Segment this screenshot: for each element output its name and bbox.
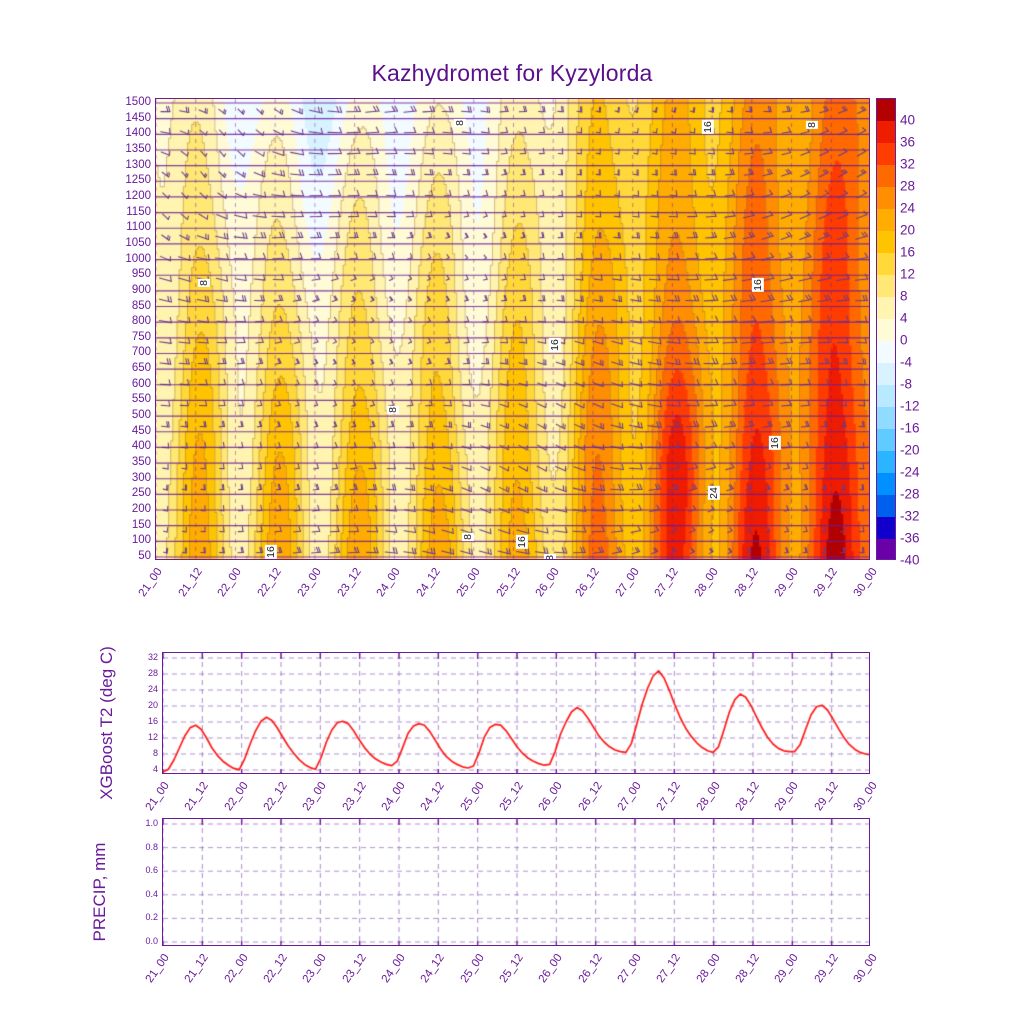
x-tick-label: 26_12: [576, 952, 604, 985]
x-tick-label: 24_00: [380, 952, 408, 985]
precip-x-axis-labels: 21_0021_1222_0022_1223_0023_1224_0024_12…: [162, 952, 870, 1000]
y-tick-label: 1250: [125, 174, 151, 186]
contour-label: 8: [806, 121, 818, 129]
x-tick-label: 29_00: [773, 952, 801, 985]
colorbar-segment: [877, 341, 895, 363]
y-tick-label: 1.0: [124, 818, 158, 828]
x-tick-label: 26_00: [537, 780, 565, 813]
x-tick-label: 26_00: [537, 952, 565, 985]
colorbar-tick-label: -4: [900, 355, 912, 370]
x-tick-label: 21_00: [144, 952, 172, 985]
x-tick-label: 24_12: [419, 780, 447, 813]
y-tick-label: 850: [132, 300, 151, 312]
x-tick-label: 21_00: [144, 780, 172, 813]
x-tick-label: 29_12: [812, 566, 840, 599]
colorbar-segment: [877, 143, 895, 165]
x-tick-label: 21_12: [176, 566, 204, 599]
colorbar-segment: [877, 429, 895, 451]
x-tick-label: 27_12: [653, 566, 681, 599]
x-tick-label: 29_00: [773, 780, 801, 813]
colorbar-tick-label: -16: [900, 421, 920, 436]
x-tick-label: 27_00: [616, 780, 644, 813]
x-tick-label: 25_12: [498, 952, 526, 985]
y-tick-label: 1150: [126, 206, 151, 218]
colorbar[interactable]: [876, 98, 896, 560]
y-tick-label: 0.6: [124, 865, 158, 875]
x-tick-label: 28_00: [694, 952, 722, 985]
x-tick-label: 22_00: [216, 566, 244, 599]
x-tick-label: 30_00: [852, 566, 880, 599]
x-tick-label: 22_00: [222, 780, 250, 813]
y-tick-label: 20: [124, 700, 158, 710]
colorbar-tick-label: 0: [900, 333, 908, 348]
x-tick-label: 29_12: [812, 952, 840, 985]
colorbar-tick-label: -40: [900, 553, 920, 568]
colorbar-tick-label: -28: [900, 487, 920, 502]
x-tick-label: 29_00: [772, 566, 800, 599]
contour-labels-layer: 81688161681624168168: [156, 99, 869, 559]
colorbar-segment: [877, 231, 895, 253]
x-tick-label: 23_12: [340, 780, 368, 813]
contour-label: 16: [265, 545, 277, 559]
colorbar-segment: [877, 253, 895, 275]
x-tick-label: 29_12: [812, 780, 840, 813]
colorbar-segment: [877, 495, 895, 517]
precip-y-axis-labels: 1.00.80.60.40.20.0: [120, 818, 158, 946]
y-tick-label: 400: [132, 440, 151, 452]
t2-temperature-line: [163, 653, 870, 774]
colorbar-tick-label: 12: [900, 267, 915, 282]
x-tick-label: 21_12: [183, 952, 211, 985]
contour-label: 8: [544, 554, 556, 560]
contour-label: 8: [198, 279, 210, 287]
y-tick-label: 600: [132, 378, 151, 390]
y-tick-label: 350: [132, 456, 151, 468]
y-tick-label: 1000: [125, 253, 151, 265]
x-tick-label: 27_12: [655, 780, 683, 813]
precip-bars: [163, 819, 870, 946]
x-tick-label: 23_12: [340, 952, 368, 985]
colorbar-segment: [877, 473, 895, 495]
x-tick-label: 24_00: [380, 780, 408, 813]
x-tick-label: 30_00: [852, 780, 880, 813]
colorbar-labels: 4036322824201612840-4-8-12-16-20-24-28-3…: [900, 98, 942, 560]
colorbar-segment: [877, 187, 895, 209]
x-tick-label: 28_00: [693, 566, 721, 599]
colorbar-tick-label: -20: [900, 443, 920, 458]
x-tick-label: 22_12: [256, 566, 284, 599]
y-tick-label: 1100: [126, 221, 151, 233]
y-tick-label: 1450: [125, 112, 151, 124]
colorbar-tick-label: -36: [900, 531, 920, 546]
x-tick-label: 25_12: [494, 566, 522, 599]
y-tick-label: 700: [132, 346, 151, 358]
colorbar-segment: [877, 99, 895, 121]
colorbar-tick-label: -32: [900, 509, 920, 524]
y-tick-label: 32: [124, 652, 158, 662]
colorbar-segment: [877, 385, 895, 407]
y-tick-label: 1050: [125, 237, 151, 249]
y-tick-label: 28: [124, 668, 158, 678]
x-tick-label: 24_00: [375, 566, 403, 599]
y-tick-label: 800: [132, 315, 151, 327]
y-tick-label: 50: [138, 550, 151, 562]
colorbar-tick-label: 16: [900, 245, 915, 260]
colorbar-tick-label: -8: [900, 377, 912, 392]
y-tick-label: 24: [124, 684, 158, 694]
y-tick-label: 1300: [125, 159, 151, 171]
colorbar-segment: [877, 363, 895, 385]
colorbar-segment: [877, 539, 895, 560]
y-tick-label: 1200: [125, 190, 151, 202]
x-tick-label: 26_00: [534, 566, 562, 599]
y-tick-label: 8: [124, 748, 158, 758]
colorbar-segment: [877, 165, 895, 187]
colorbar-tick-label: 36: [900, 135, 915, 150]
x-tick-label: 27_12: [655, 952, 683, 985]
colorbar-segment: [877, 275, 895, 297]
contour-label: 8: [387, 406, 399, 414]
x-tick-label: 25_00: [458, 780, 486, 813]
colorbar-tick-label: 20: [900, 223, 915, 238]
x-tick-label: 23_00: [301, 952, 329, 985]
x-tick-label: 23_00: [296, 566, 324, 599]
y-tick-label: 0.0: [124, 936, 158, 946]
precipitation-panel[interactable]: [162, 818, 870, 946]
y-tick-label: 100: [132, 534, 151, 546]
x-tick-label: 21_00: [137, 566, 165, 599]
main-panel-x-axis-labels: 21_0021_1222_0022_1223_0023_1224_0024_12…: [155, 566, 870, 618]
y-tick-label: 1350: [125, 143, 151, 155]
colorbar-segment: [877, 517, 895, 539]
y-tick-label: 150: [132, 519, 151, 531]
colorbar-tick-label: -24: [900, 465, 920, 480]
colorbar-tick-label: 28: [900, 179, 915, 194]
y-tick-label: 650: [132, 362, 151, 374]
y-tick-label: 550: [132, 393, 151, 405]
contour-label: 8: [454, 119, 466, 127]
colorbar-segment: [877, 451, 895, 473]
y-tick-label: 950: [132, 268, 151, 280]
y-tick-label: 500: [132, 409, 151, 421]
x-tick-label: 27_00: [613, 566, 641, 599]
upper-air-cross-section-panel[interactable]: 81688161681624168168: [155, 98, 870, 560]
y-tick-label: 1400: [125, 127, 151, 139]
colorbar-segment: [877, 407, 895, 429]
precip-axis-title: PRECIP, mm: [90, 802, 110, 982]
y-tick-label: 300: [132, 472, 151, 484]
colorbar-segment: [877, 319, 895, 341]
y-tick-label: 0.2: [124, 912, 158, 922]
x-tick-label: 28_00: [694, 780, 722, 813]
xgboost-t2-panel[interactable]: [162, 652, 870, 774]
colorbar-tick-label: 24: [900, 201, 915, 216]
colorbar-tick-label: 40: [900, 113, 915, 128]
contour-label: 16: [516, 535, 528, 549]
main-panel-y-axis-labels: 1500145014001350130012501200115011001050…: [95, 98, 151, 560]
colorbar-tick-label: 32: [900, 157, 915, 172]
x-tick-label: 23_00: [301, 780, 329, 813]
x-tick-label: 28_12: [732, 566, 760, 599]
y-tick-label: 1500: [125, 96, 151, 108]
y-tick-label: 900: [132, 284, 151, 296]
x-tick-label: 22_00: [222, 952, 250, 985]
x-tick-label: 30_00: [852, 952, 880, 985]
x-tick-label: 25_12: [498, 780, 526, 813]
y-tick-label: 450: [132, 425, 151, 437]
contour-label: 16: [549, 338, 561, 352]
colorbar-tick-label: -12: [900, 399, 920, 414]
colorbar-segment: [877, 297, 895, 319]
y-tick-label: 0.8: [124, 842, 158, 852]
x-tick-label: 24_12: [415, 566, 443, 599]
x-tick-label: 25_00: [454, 566, 482, 599]
y-tick-label: 12: [124, 732, 158, 742]
y-tick-label: 750: [132, 331, 151, 343]
contour-label: 24: [708, 486, 720, 500]
contour-label: 8: [462, 533, 474, 541]
x-tick-label: 21_12: [183, 780, 211, 813]
x-tick-label: 27_00: [616, 952, 644, 985]
contour-label: 16: [769, 436, 781, 450]
t2-y-axis-labels: 32282420161284: [120, 652, 158, 774]
contour-label: 16: [752, 278, 764, 292]
x-tick-label: 28_12: [734, 952, 762, 985]
y-tick-label: 4: [124, 764, 158, 774]
x-tick-label: 24_12: [419, 952, 447, 985]
colorbar-segment: [877, 209, 895, 231]
x-tick-label: 23_12: [335, 566, 363, 599]
colorbar-tick-label: 4: [900, 311, 908, 326]
page-title: Kazhydromet for Kyzylorda: [0, 60, 1024, 87]
x-tick-label: 22_12: [262, 952, 290, 985]
y-tick-label: 250: [132, 487, 151, 499]
x-tick-label: 26_12: [574, 566, 602, 599]
x-tick-label: 25_00: [458, 952, 486, 985]
colorbar-segment: [877, 121, 895, 143]
y-tick-label: 200: [132, 503, 151, 515]
contour-label: 16: [702, 120, 714, 134]
colorbar-tick-label: 8: [900, 289, 908, 304]
x-tick-label: 26_12: [576, 780, 604, 813]
y-tick-label: 16: [124, 716, 158, 726]
y-tick-label: 0.4: [124, 889, 158, 899]
x-tick-label: 22_12: [262, 780, 290, 813]
x-tick-label: 28_12: [734, 780, 762, 813]
